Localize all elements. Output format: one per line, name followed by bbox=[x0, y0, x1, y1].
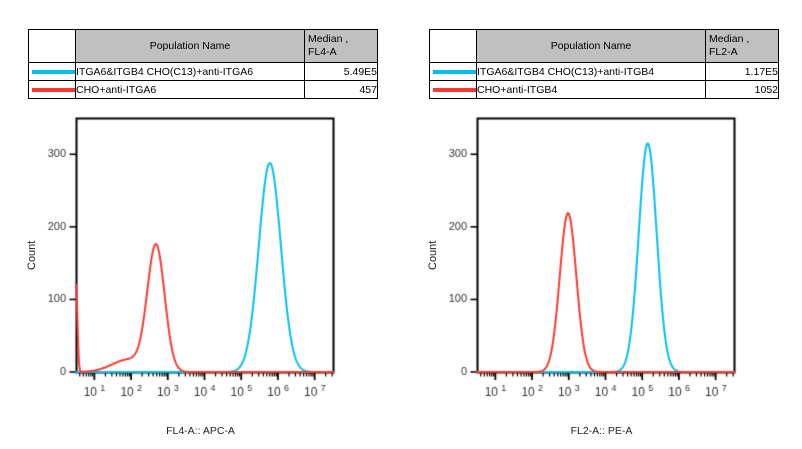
legend-header-median: Median , FL4-A bbox=[305, 30, 378, 63]
table-row: ITGA6&ITGB4 CHO(C13)+anti-ITGA6 5.49E5 bbox=[29, 63, 378, 81]
legend-header-row: Population Name Median , FL4-A bbox=[29, 30, 378, 63]
swatch-line-red bbox=[433, 88, 476, 92]
table-row: CHO+anti-ITGB4 1052 bbox=[430, 81, 779, 99]
panel-left: Population Name Median , FL4-A ITGA6&ITG… bbox=[0, 0, 401, 449]
legend-color-swatch bbox=[430, 63, 476, 80]
legend-header-swatch bbox=[430, 30, 477, 63]
legend-population-name: CHO+anti-ITGB4 bbox=[477, 81, 706, 99]
legend-population-name: ITGA6&ITGB4 CHO(C13)+anti-ITGA6 bbox=[76, 63, 305, 81]
legend-header-row: Population Name Median , FL2-A bbox=[430, 30, 779, 63]
legend-header-median: Median , FL2-A bbox=[706, 30, 779, 63]
legend-population-name: CHO+anti-ITGA6 bbox=[76, 81, 305, 99]
legend-swatch-cell bbox=[430, 81, 477, 99]
legend-median-value: 1.17E5 bbox=[706, 63, 779, 81]
population-legend-table-left: Population Name Median , FL4-A ITGA6&ITG… bbox=[28, 29, 378, 99]
histogram-plot-left bbox=[30, 116, 360, 406]
swatch-line-cyan bbox=[433, 70, 476, 74]
legend-median-value: 5.49E5 bbox=[305, 63, 378, 81]
legend-median-value: 457 bbox=[305, 81, 378, 99]
panel-right: Population Name Median , FL2-A ITGA6&ITG… bbox=[401, 0, 802, 449]
x-axis-title: FL4-A:: APC-A bbox=[0, 425, 401, 437]
population-legend-table-right: Population Name Median , FL2-A ITGA6&ITG… bbox=[429, 29, 779, 99]
histogram-canvas bbox=[431, 116, 761, 406]
legend-header-swatch bbox=[29, 30, 76, 63]
flow-cytometry-figure: Population Name Median , FL4-A ITGA6&ITG… bbox=[0, 0, 802, 449]
histogram-plot-right bbox=[431, 116, 761, 406]
legend-median-value: 1052 bbox=[706, 81, 779, 99]
table-row: CHO+anti-ITGA6 457 bbox=[29, 81, 378, 99]
legend-swatch-cell bbox=[29, 81, 76, 99]
legend-header-population-name: Population Name bbox=[477, 30, 706, 63]
legend-swatch-cell bbox=[29, 63, 76, 81]
table-row: ITGA6&ITGB4 CHO(C13)+anti-ITGB4 1.17E5 bbox=[430, 63, 779, 81]
swatch-line-red bbox=[32, 88, 75, 92]
histogram-canvas bbox=[30, 116, 360, 406]
legend-color-swatch bbox=[430, 81, 476, 98]
legend-color-swatch bbox=[29, 81, 75, 98]
legend-header-population-name: Population Name bbox=[76, 30, 305, 63]
legend-swatch-cell bbox=[430, 63, 477, 81]
swatch-line-cyan bbox=[32, 70, 75, 74]
legend-body: ITGA6&ITGB4 CHO(C13)+anti-ITGA6 5.49E5 C… bbox=[29, 63, 378, 99]
legend-color-swatch bbox=[29, 63, 75, 80]
legend-population-name: ITGA6&ITGB4 CHO(C13)+anti-ITGB4 bbox=[477, 63, 706, 81]
legend-body: ITGA6&ITGB4 CHO(C13)+anti-ITGB4 1.17E5 C… bbox=[430, 63, 779, 99]
x-axis-title: FL2-A:: PE-A bbox=[401, 425, 802, 437]
